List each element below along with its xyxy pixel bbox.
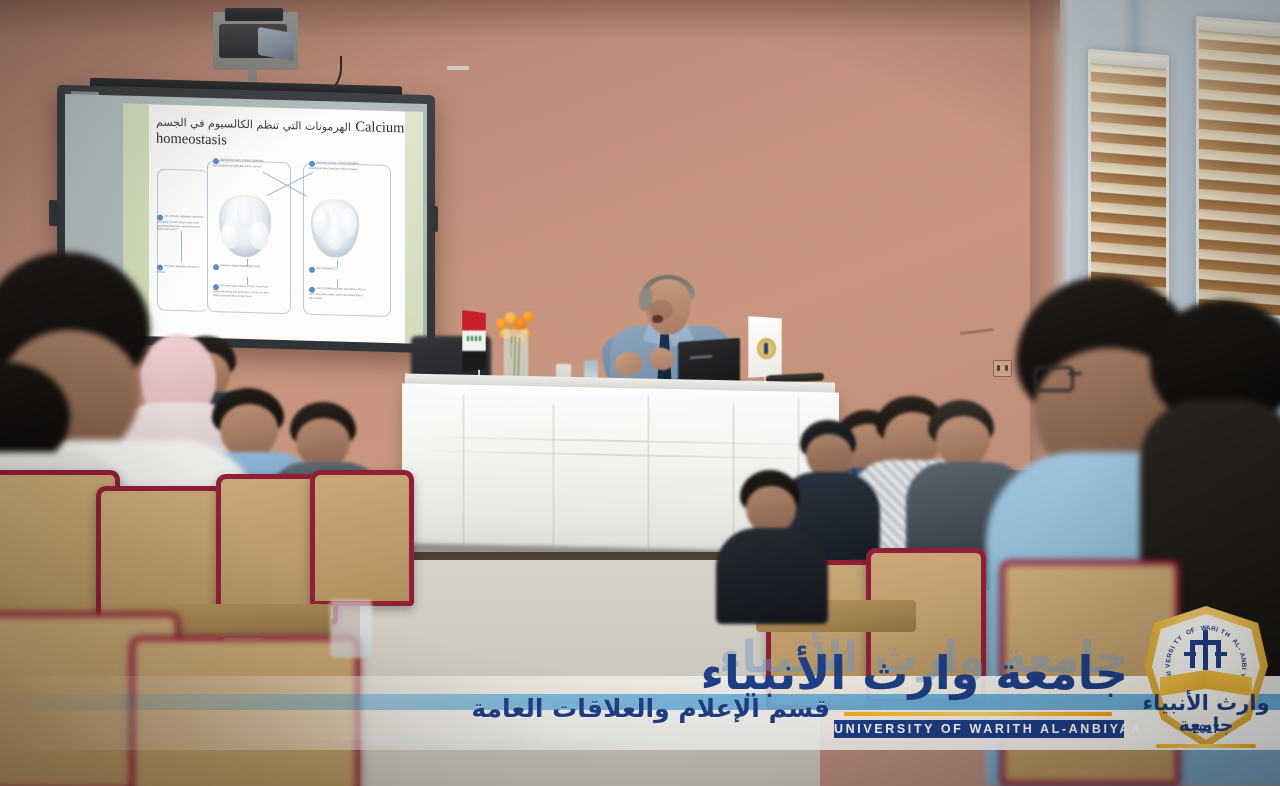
callout-text-4: PTH promotes release of Ca2+ from bone m… [213, 284, 269, 297]
callout-text-7: CALCITONIN promotes deposition of blood … [309, 287, 366, 300]
iraq-flag-script [467, 336, 481, 341]
window-blind-right [1196, 16, 1280, 320]
seal-arabic-line1: وارث الأنبياء [1136, 692, 1276, 714]
iraq-flag-icon [462, 310, 486, 372]
smartboard-side-clip [429, 206, 438, 232]
slide-title-en1: Calcium [355, 119, 404, 136]
diagram-arrow [247, 259, 248, 267]
callout-text-5: PARATHYROID HORMONE (PTH) [220, 264, 260, 268]
slide-callout-4: PTH promotes release of Ca2+ from bone m… [213, 284, 271, 299]
university-wordmark-arabic: جامعة وارث الأنبياء [828, 650, 1128, 696]
slide-callout-3: CALCITRIOL stimulates increased absorpti… [157, 215, 205, 233]
callout-bullet-5 [213, 264, 219, 270]
laptop-logo [690, 355, 712, 360]
university-flag-icon [748, 316, 782, 378]
wordmark-gold-rule [844, 712, 1112, 716]
seal-gold-rule [1156, 744, 1256, 748]
slide-callout-1: High level of Ca2+ in blood stimulates t… [213, 158, 267, 169]
calcium-homeostasis-diagram: High level of Ca2+ in blood stimulates t… [151, 152, 409, 337]
university-wordmark: جامعة وارث الأنبياء جامعة وارث الأنبياء … [828, 648, 1128, 756]
slide-callout-8: PTH also stimulates kidneys to release [157, 265, 203, 276]
blind-light [1091, 52, 1166, 303]
auditorium-seat[interactable] [310, 470, 414, 606]
university-wordmark-english: UNIVERSITY OF WARITH AL-ANBIYAA [834, 720, 1124, 738]
seal-year: 2017 [1136, 722, 1276, 736]
diagram-arrow [181, 231, 182, 261]
power-outlet-icon [993, 360, 1012, 377]
callout-text-3: CALCITRIOL stimulates increased absorpti… [157, 215, 204, 231]
callout-text-2: Low level of Ca2+ in blood stimulates pa… [309, 161, 359, 171]
presenter-mouth [652, 315, 663, 323]
ceiling-shadow [0, 0, 1060, 40]
blind-light [1199, 19, 1280, 316]
projector-brand-label [447, 66, 469, 70]
diagram-arrow [247, 277, 248, 285]
slide-callout-7: CALCITONIN promotes deposition of blood … [309, 287, 367, 302]
diagram-arrow [337, 280, 338, 288]
presentation-slide: الهرمونات التي تنظم الكالسيوم في الجسم C… [123, 104, 423, 344]
auditorium-seat[interactable] [130, 636, 360, 786]
slide-title: الهرمونات التي تنظم الكالسيوم في الجسم C… [156, 112, 406, 153]
callout-text-1: High level of Ca2+ in blood stimulates t… [213, 158, 263, 168]
seal-monogram-icon [1184, 630, 1228, 670]
callout-text-8: PTH also stimulates kidneys to release [157, 265, 199, 274]
callout-bullet-6 [309, 267, 315, 273]
diagram-arrow [337, 260, 338, 268]
callout-text-6: CALCITONIN (CT) [316, 267, 338, 271]
window-blind-left [1088, 49, 1169, 306]
glass-cup [330, 600, 372, 658]
lecture-hall-photo: الهرمونات التي تنظم الكالسيوم في الجسم C… [0, 0, 1280, 786]
smartboard-side-clip [49, 200, 58, 226]
projector-top-bracket [225, 8, 283, 21]
slide-callout-2: Low level of Ca2+ in blood stimulates pa… [309, 161, 365, 172]
university-seal: UNIVERSITY OF WARITH AL-ANBIYAA وارث الأ… [1136, 596, 1276, 758]
flow-frame-outer [157, 169, 208, 312]
university-flag-emblem [757, 338, 776, 359]
